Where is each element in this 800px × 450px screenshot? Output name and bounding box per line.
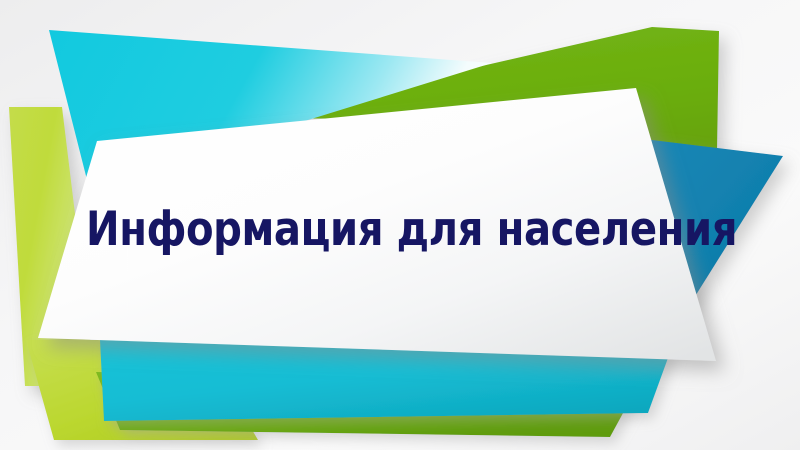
abstract-background-graphic	[0, 0, 800, 450]
banner-canvas: Информация для населения	[0, 0, 800, 450]
